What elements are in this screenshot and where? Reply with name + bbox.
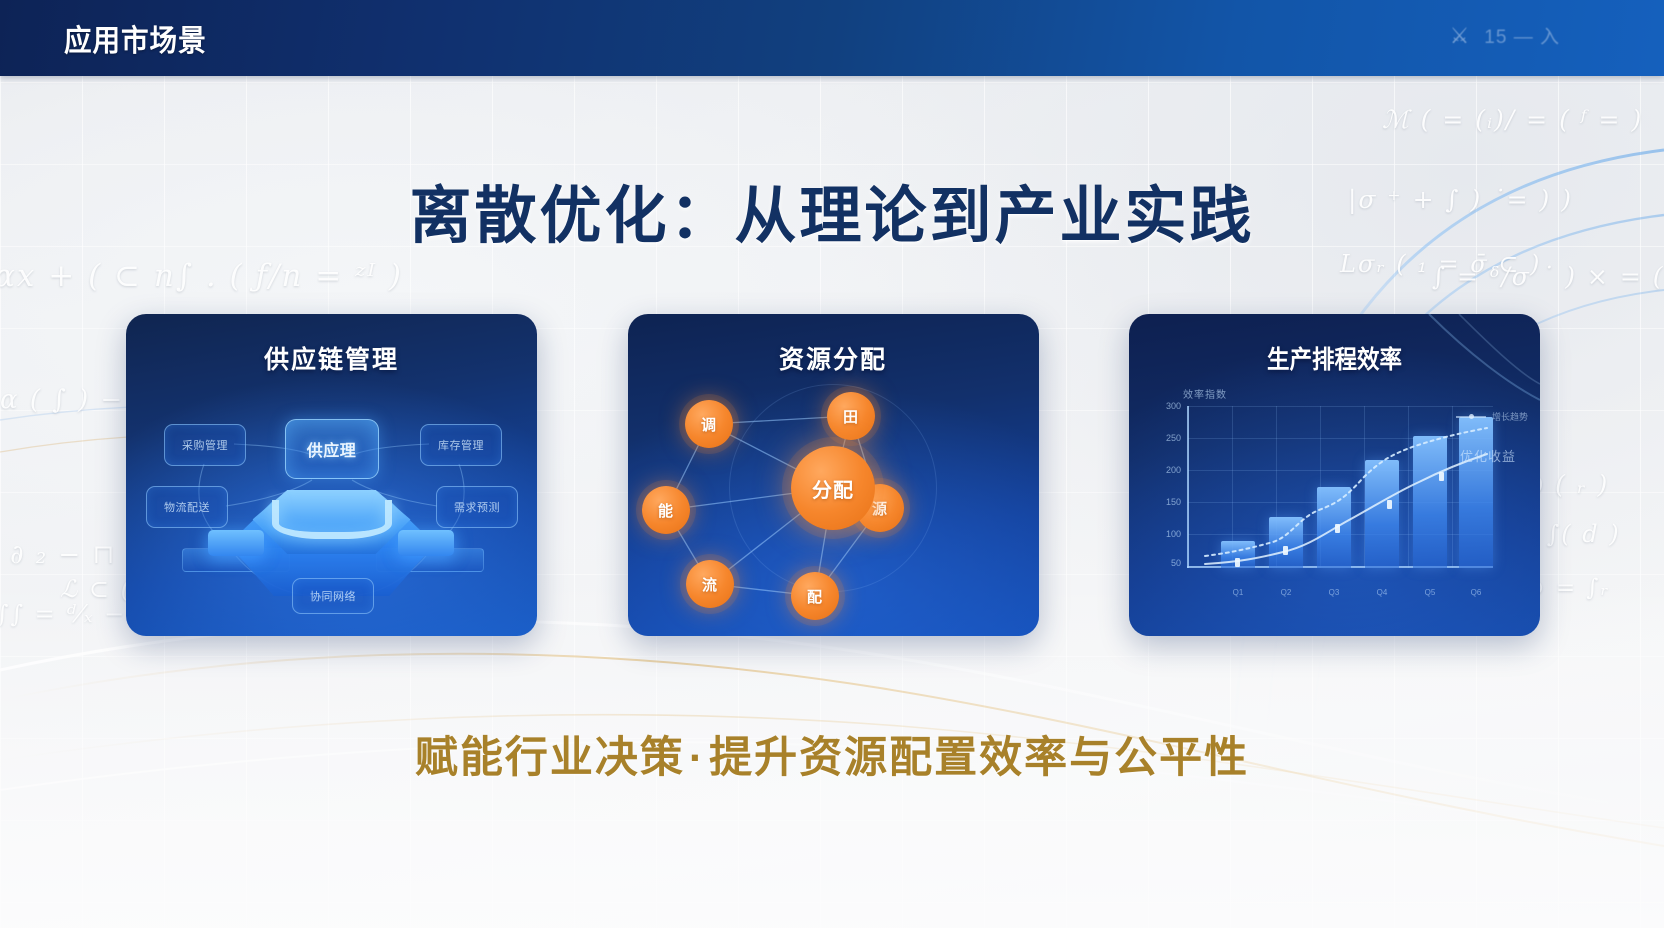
- chart-y-tick: 100: [1166, 529, 1181, 539]
- chart-bar: [1459, 417, 1493, 568]
- trophy-icon: ⚔: [1450, 23, 1471, 49]
- chart-y-tick: 300: [1166, 401, 1181, 411]
- page-title: 离散优化：从理论到产业实践: [0, 165, 1664, 255]
- card-row: 采购管理 库存管理 物流配送 需求预测 协同网络 供应理 供应链管理: [126, 314, 1540, 636]
- chart-plot-area: 效率指数 300 250 200 150 100 50: [1187, 406, 1503, 584]
- chart-x-tick: Q5: [1425, 588, 1436, 597]
- chart-x-tick: Q3: [1329, 588, 1340, 597]
- slide-root: αx + ( ⊂ n∫ . ( ƒ/n = ᶻᴵ ) ℳ ( = (ᵢ)/ = …: [0, 0, 1664, 928]
- network-node: 能: [642, 486, 690, 534]
- chart-x-tick: Q2: [1281, 588, 1292, 597]
- chart-x-tick: Q1: [1233, 588, 1244, 597]
- tagline-right: 提升资源配置效率与公平性: [709, 734, 1249, 782]
- card-production-scheduling[interactable]: 效率指数 300 250 200 150 100 50: [1129, 314, 1540, 636]
- chevron-glow-icon: [272, 500, 392, 539]
- header-bar: 应用市场景 ⚔ 15 — 入: [0, 0, 1664, 76]
- chart-annotation: 优化收益: [1460, 446, 1516, 465]
- chart-bar: [1221, 541, 1255, 568]
- tagline: 赋能行业决策·提升资源配置效率与公平性: [0, 723, 1664, 785]
- supply-chain-node: 库存管理: [420, 424, 502, 466]
- card-title: 生产排程效率: [1150, 340, 1520, 376]
- chart-legend-swatch: [1456, 416, 1486, 418]
- chart-y-axis: [1187, 406, 1189, 568]
- network-node: 流: [686, 560, 734, 608]
- network-node: 配: [791, 572, 839, 620]
- chart-x-tick: Q4: [1377, 588, 1388, 597]
- chart-y-tick: 50: [1171, 558, 1181, 568]
- supply-chain-node: 协同网络: [292, 578, 374, 614]
- chart-bar: [1269, 517, 1303, 568]
- header-meta-text: 15 — 入: [1484, 22, 1560, 49]
- chart-legend-label: 增长趋势: [1492, 410, 1528, 423]
- chart-y-tick: 150: [1166, 497, 1181, 507]
- platform-cube: [208, 530, 264, 556]
- supply-chain-node: 物流配送: [146, 486, 228, 528]
- chart-bar: [1413, 436, 1447, 568]
- card-resource-allocation[interactable]: 调 田 能 源 流 配 分配 资源分配: [628, 314, 1039, 636]
- chart-bar: [1365, 460, 1399, 568]
- chart-y-axis-label: 效率指数: [1183, 386, 1227, 401]
- network-center-node: 分配: [791, 446, 875, 530]
- tagline-separator: ·: [685, 734, 709, 782]
- chart-y-tick: 200: [1166, 465, 1181, 475]
- network-node: 调: [685, 400, 733, 448]
- network-node: 田: [827, 392, 875, 440]
- chart-legend: 增长趋势: [1456, 410, 1528, 423]
- platform-cube: [398, 530, 454, 556]
- card-supply-chain[interactable]: 采购管理 库存管理 物流配送 需求预测 协同网络 供应理 供应链管理: [126, 314, 537, 636]
- header-meta: ⚔ 15 — 入: [1450, 22, 1560, 49]
- supply-chain-node: 需求预测: [436, 486, 518, 528]
- card-title: 供应链管理: [126, 340, 537, 376]
- chart-y-tick: 250: [1166, 433, 1181, 443]
- chart-bar: [1317, 487, 1351, 568]
- supply-chain-core-label: 供应理: [285, 419, 379, 479]
- supply-chain-node: 采购管理: [164, 424, 246, 466]
- card-title: 资源分配: [628, 340, 1039, 376]
- header-title: 应用市场景: [64, 16, 207, 60]
- tagline-left: 赋能行业决策: [415, 734, 685, 782]
- chart-x-tick: Q6: [1471, 588, 1482, 597]
